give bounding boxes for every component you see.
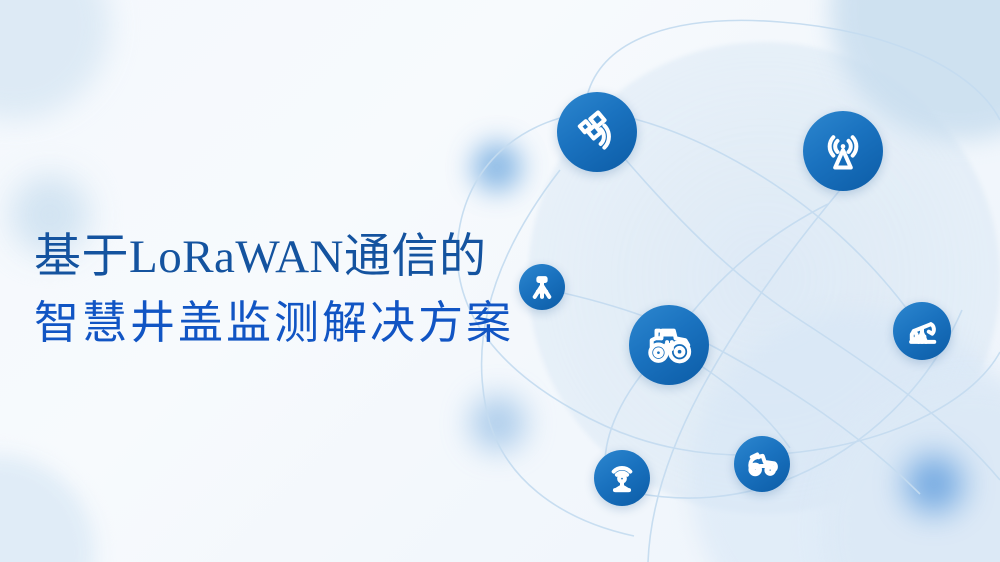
wireless-sensor-icon — [606, 462, 638, 494]
node-harvester — [734, 436, 790, 492]
radio-tower-icon — [820, 128, 866, 174]
node-tractor — [629, 305, 709, 385]
background-blob-bottom-left — [0, 455, 95, 562]
background-blob-top-left — [0, 0, 110, 120]
node-wireless-sensor — [594, 450, 650, 506]
background-soft-circle-bottom-right — [690, 310, 1000, 562]
title-line-primary: 基于LoRaWAN通信的 — [34, 232, 514, 283]
oil-pumpjack-icon — [905, 314, 939, 348]
harvester-icon — [745, 447, 779, 481]
node-survey-tripod — [519, 264, 565, 310]
survey-tripod-icon — [529, 274, 555, 300]
satellite-signal-icon — [574, 109, 620, 155]
background-dot-upper-center — [472, 142, 522, 192]
presentation-cover-slide: 基于LoRaWAN通信的 智慧井盖监测解决方案 — [0, 0, 1000, 562]
background-dot-lower-center — [470, 395, 526, 451]
node-satellite — [557, 92, 637, 172]
tractor-icon — [645, 321, 693, 369]
background-blob-bottom-right — [820, 380, 1000, 562]
node-radio-tower — [803, 111, 883, 191]
slide-title: 基于LoRaWAN通信的 智慧井盖监测解决方案 — [34, 232, 514, 347]
background-dot-bottom-right — [905, 455, 963, 513]
node-oil-pumpjack — [893, 302, 951, 360]
title-line-secondary: 智慧井盖监测解决方案 — [34, 299, 514, 348]
